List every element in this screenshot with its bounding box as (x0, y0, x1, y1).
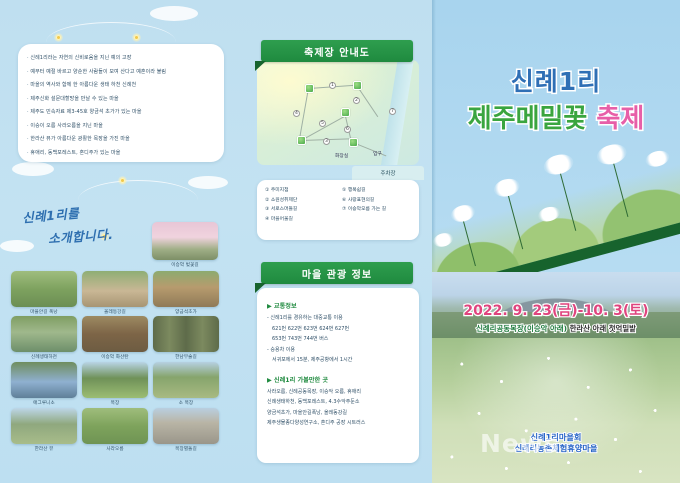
photo-image (152, 222, 218, 260)
date-end-day: (토) (623, 303, 649, 319)
legend-column-left: ① 주미지점 ② 소원성취제단 ③ 서로스머들길 ④ 마을어울길 (265, 186, 334, 224)
photo-image (153, 271, 219, 307)
map-label-toilet: 화장실 (335, 152, 348, 159)
list-item: 신례1리라는 자연의 신비로움을 지닌 예의 고장 (27, 52, 215, 66)
places-line: 제주생물종다양성연구소, 혼디주 공장 시트러스 (267, 418, 410, 429)
photo-image (153, 408, 219, 444)
list-item: 휴애리, 동백포레스트, 혼디주가 있는 마을 (27, 147, 215, 161)
map-node[interactable] (297, 136, 306, 145)
map-route-number: 3 (323, 138, 330, 145)
right-panel: 신례1리 제주메밀꽃 축제 (432, 0, 680, 483)
photo-caption: 목장 (82, 400, 148, 406)
photo-caption: 목장별돌길 (153, 446, 219, 452)
map-edge (299, 88, 309, 139)
gallery-photo (82, 408, 148, 444)
gallery-heading-line2: 소개합니다. (47, 224, 113, 248)
places-line: 양금석초가, 마을안길폭낭, 올레동강길 (267, 408, 410, 419)
tourism-info-card: ▶ 교통정보 - 신례1리를 경유하는 대중교통 이용 621번 622번 62… (257, 288, 419, 463)
list-item: 이승이 오름 사라오름을 지닌 마을 (27, 120, 215, 134)
photo-image (11, 408, 77, 444)
legend-item: ④ 마을어울길 (265, 215, 334, 225)
photo-image (82, 362, 148, 398)
legend-item: ① 주미지점 (265, 186, 334, 196)
gallery-photo (153, 316, 219, 352)
photo-image (153, 362, 219, 398)
poster-page: 신례1리라는 자연의 신비로움을 지닌 예의 고장 예부터 예절 바르고 양순한… (0, 0, 680, 483)
gallery-photo (82, 271, 148, 307)
photo-image (82, 271, 148, 307)
list-item: 예부터 예절 바르고 양순한 사람들이 모여 산다고 예혼이라 불림 (27, 66, 215, 80)
photo-image (11, 362, 77, 398)
map-node[interactable] (353, 81, 362, 90)
gallery-photo (11, 271, 77, 307)
buckwheat-field-photo (432, 338, 680, 483)
places-heading: ▶ 신례1리 가볼만한 곳 (267, 375, 410, 384)
gallery-heading: 신례1리를 소개합니다. (22, 205, 172, 245)
transport-line: 서귀포에서 15분, 제주공항에서 1시간 (267, 355, 410, 366)
legend-item: ⑥ 사랑표현의길 (342, 196, 411, 206)
photo-caption: 마을안길 폭낭 (11, 309, 77, 315)
photo-image (82, 316, 148, 352)
left-panel: 신례1리라는 자연의 신비로움을 지닌 예의 고장 예부터 예절 바르고 양순한… (0, 0, 242, 483)
gallery-photo (82, 362, 148, 398)
news-watermark: News (480, 429, 560, 458)
map-node[interactable] (349, 138, 358, 147)
legend-item: ③ 서로스머들길 (265, 205, 334, 215)
date-start-day: (금) (552, 303, 578, 319)
transport-line: - 승용차 이용 (267, 345, 410, 356)
transport-line: 653번 743번 744번 버스 (267, 334, 410, 345)
transport-line: - 신례1리를 경유하는 대중교통 이용 (267, 313, 410, 324)
map-route-number: 4 (293, 110, 300, 117)
gallery-photo (153, 362, 219, 398)
gallery-photo (152, 222, 218, 260)
photo-caption: 사라오름 (82, 446, 148, 452)
gallery-photo (153, 271, 219, 307)
photo-caption: 한라산 뷰 (11, 446, 77, 452)
list-item: 제주도 민속자료 제3-45호 양금석 초가가 있는 마을 (27, 106, 215, 120)
date-end: 10. 3 (583, 303, 622, 319)
village-intro-card: 신례1리라는 자연의 신비로움을 지닌 예의 고장 예부터 예절 바르고 양순한… (18, 44, 224, 162)
places-line: 신례생태하천, 동백포레스트, 4.3수악주둔소 (267, 397, 410, 408)
gallery-photo (82, 316, 148, 352)
field-haze (432, 338, 680, 483)
photo-image (11, 271, 77, 307)
legend-item: ⑦ 이승악오름 가는 길 (342, 205, 411, 215)
map-route-number: 6 (344, 126, 351, 133)
map-legend: ① 주미지점 ② 소원성취제단 ③ 서로스머들길 ④ 마을어울길 ⑤ 행복쉼길 … (257, 180, 419, 240)
list-item: 제주신화 설문대할망을 만날 수 있는 마을 (27, 93, 215, 107)
photo-caption: 양금석초가 (153, 309, 219, 315)
festival-map[interactable]: 1 2 3 4 5 6 7 화장실 입구 (257, 60, 419, 165)
map-route-number: 1 (329, 82, 336, 89)
photo-caption: 신례생태하천 (11, 354, 77, 360)
photo-caption: 애그루니소 (11, 400, 77, 406)
photo-image (82, 408, 148, 444)
map-route-number: 7 (389, 108, 396, 115)
list-item: 한라산 뷰가 아름다운 광활한 목장을 가진 마을 (27, 133, 215, 147)
gallery-photo (153, 408, 219, 444)
location-green: 신례리공동목장(이승악 아래) (476, 324, 567, 333)
places-line: 사라오름, 신례공동목장, 이승악 오름, 휴애리 (267, 387, 410, 398)
photo-caption: 이승악 화산탄 (82, 354, 148, 360)
transport-line: 621번 622번 623번 624번 627번 (267, 324, 410, 335)
photo-caption: 한남무술길 (153, 354, 219, 360)
legend-item: ⑤ 행복쉼길 (342, 186, 411, 196)
map-route-number: 5 (319, 120, 326, 127)
list-item: 마을의 역사와 함께 한 아름다운 생태 하천 신례천 (27, 79, 215, 93)
poster-title-line1: 신례1리 (432, 62, 680, 98)
legend-item: ② 소원성취제단 (265, 196, 334, 206)
poster-title: 신례1리 제주메밀꽃 축제 (432, 62, 680, 135)
photo-caption: 이승악 벚꽃길 (152, 262, 218, 268)
map-node[interactable] (305, 84, 314, 93)
river-shape (379, 60, 415, 165)
location-black: 한라산 아래 첫억밀밭 (570, 324, 636, 333)
map-node[interactable] (341, 108, 350, 117)
map-route-number: 2 (353, 97, 360, 104)
map-label-parking: 주차장 (352, 166, 424, 180)
gallery-photo (11, 362, 77, 398)
poster-title-green: 제주메밀꽃 (468, 104, 588, 134)
festival-location: 신례리공동목장(이승악 아래) 한라산 아래 첫억밀밭 (432, 323, 680, 334)
gallery-photo (11, 316, 77, 352)
map-section-heading: 축제장 안내도 (261, 40, 413, 62)
date-start: 2022. 9. 23 (463, 303, 552, 319)
photo-image (11, 316, 77, 352)
map-label-entrance: 입구 (373, 150, 382, 157)
tourism-section-heading: 마을 관광 정보 (261, 262, 413, 284)
village-intro-list: 신례1리라는 자연의 신비로움을 지닌 예의 고장 예부터 예절 바르고 양순한… (27, 52, 215, 160)
photo-caption: 올레동강길 (82, 309, 148, 315)
gallery-heading-line1: 신례1리를 (21, 203, 80, 227)
festival-date: 2022. 9. 23(금)-10. 3(토) 신례리공동목장(이승악 아래) … (432, 300, 680, 334)
legend-column-right: ⑤ 행복쉼길 ⑥ 사랑표현의길 ⑦ 이승악오름 가는 길 (342, 186, 411, 224)
photo-image (153, 316, 219, 352)
gallery-photo (11, 408, 77, 444)
transport-heading: ▶ 교통정보 (267, 301, 410, 310)
photo-caption: 소 목장 (153, 400, 219, 406)
center-panel: 축제장 안내도 1 2 3 4 5 6 7 화장실 (242, 0, 432, 483)
festival-date-line: 2022. 9. 23(금)-10. 3(토) (432, 300, 680, 320)
